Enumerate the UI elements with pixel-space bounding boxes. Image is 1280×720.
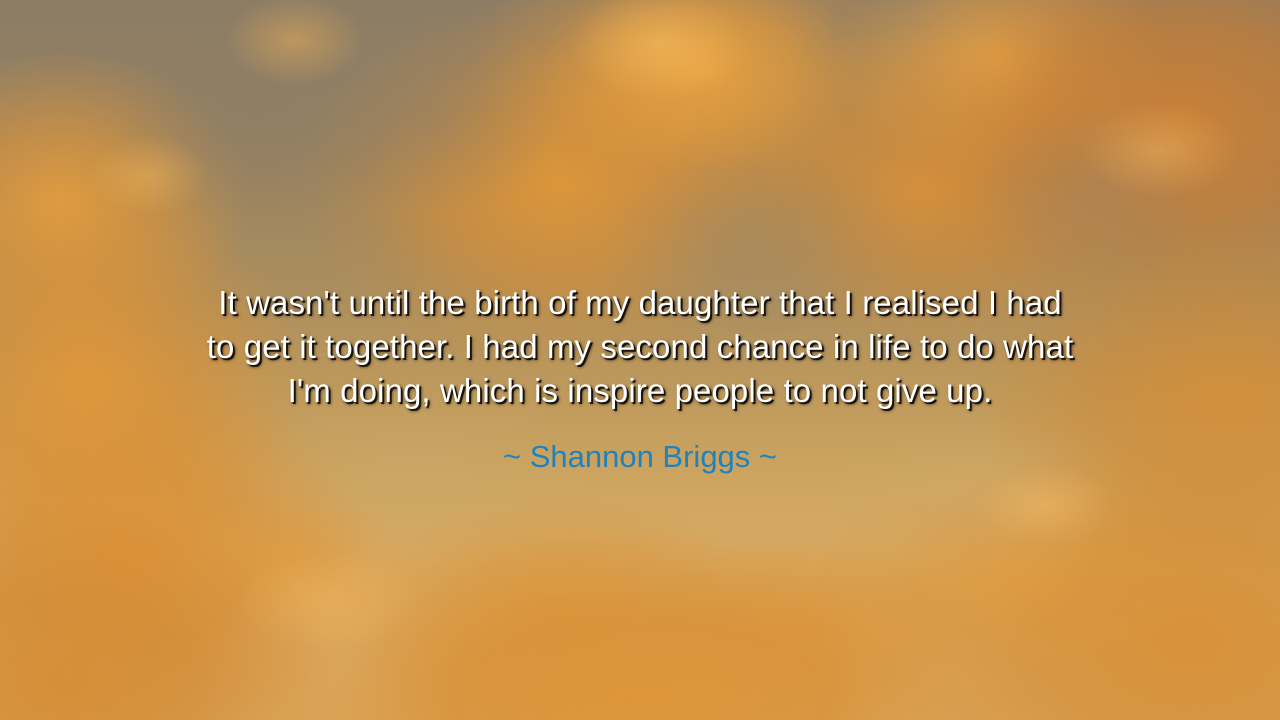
quote-line-3: I'm doing, which is inspire people to no…	[80, 369, 1200, 413]
quote-text-block: It wasn't until the birth of my daughter…	[80, 281, 1200, 413]
quote-image-canvas: It wasn't until the birth of my daughter…	[0, 0, 1280, 720]
quote-attribution: ~ Shannon Briggs ~	[503, 437, 777, 477]
quote-line-2: to get it together. I had my second chan…	[80, 325, 1200, 369]
quote-line-1: It wasn't until the birth of my daughter…	[80, 281, 1200, 325]
text-overlay: It wasn't until the birth of my daughter…	[0, 0, 1280, 720]
